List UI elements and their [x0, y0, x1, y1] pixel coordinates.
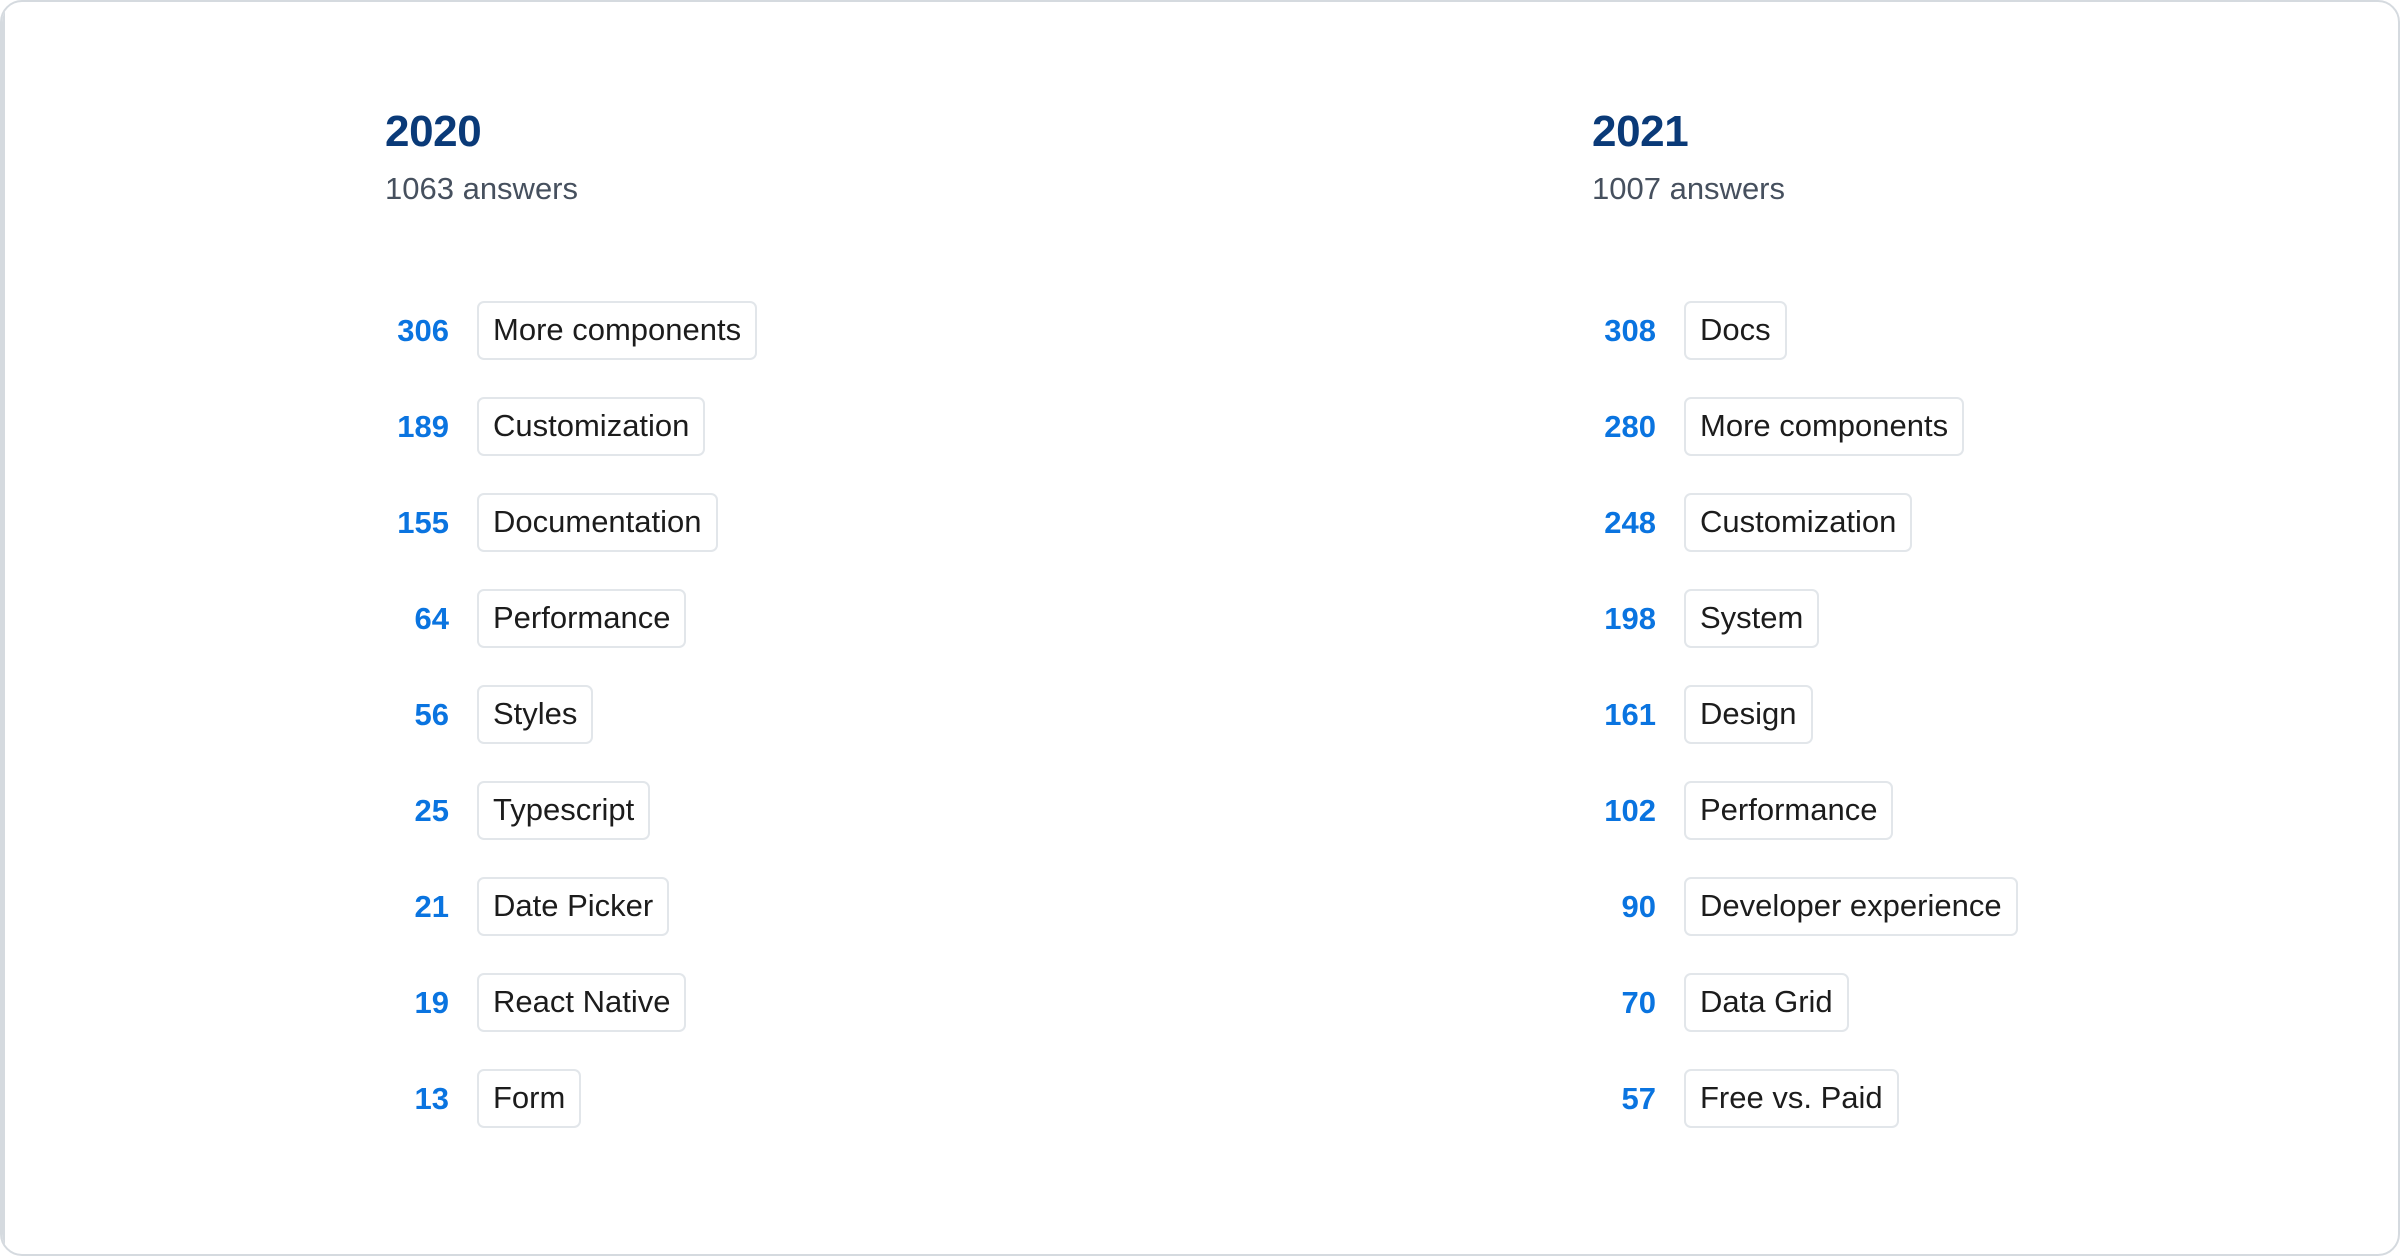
answer-count: 161 — [1592, 699, 1656, 730]
answer-row[interactable]: 90 Developer experience — [1592, 858, 2018, 954]
answer-row[interactable]: 70 Data Grid — [1592, 954, 2018, 1050]
answer-list-2021: 308 Docs 280 More components 248 Customi… — [1592, 282, 2018, 1146]
answer-tag[interactable]: Performance — [1684, 781, 1893, 840]
answer-count: 102 — [1592, 795, 1656, 826]
answer-row[interactable]: 308 Docs — [1592, 282, 2018, 378]
answer-tag[interactable]: System — [1684, 589, 1819, 648]
year-column-2021: 2021 1007 answers 308 Docs 280 More comp… — [2, 2, 1592, 1254]
year-title-2021: 2021 — [1592, 110, 1688, 154]
answer-tag[interactable]: Design — [1684, 685, 1813, 744]
survey-results-card: 2020 1063 answers 306 More components 18… — [0, 0, 2400, 1256]
answer-count: 280 — [1592, 411, 1656, 442]
answer-count: 308 — [1592, 315, 1656, 346]
column-content-2021: 2021 1007 answers 308 Docs 280 More comp… — [1592, 110, 1688, 154]
answer-row[interactable]: 248 Customization — [1592, 474, 2018, 570]
answer-tag[interactable]: Data Grid — [1684, 973, 1849, 1032]
answer-row[interactable]: 161 Design — [1592, 666, 2018, 762]
answers-count-2021: 1007 answers — [1592, 173, 1785, 204]
answer-count: 248 — [1592, 507, 1656, 538]
answer-row[interactable]: 102 Performance — [1592, 762, 2018, 858]
answer-tag[interactable]: More components — [1684, 397, 1964, 456]
answer-count: 57 — [1592, 1083, 1656, 1114]
answer-tag[interactable]: Customization — [1684, 493, 1912, 552]
answer-tag[interactable]: Free vs. Paid — [1684, 1069, 1899, 1128]
answer-count: 70 — [1592, 987, 1656, 1018]
answer-count: 90 — [1592, 891, 1656, 922]
answer-count: 198 — [1592, 603, 1656, 634]
answer-row[interactable]: 280 More components — [1592, 378, 2018, 474]
answer-row[interactable]: 198 System — [1592, 570, 2018, 666]
answer-tag[interactable]: Docs — [1684, 301, 1787, 360]
answer-tag[interactable]: Developer experience — [1684, 877, 2018, 936]
answer-row[interactable]: 57 Free vs. Paid — [1592, 1050, 2018, 1146]
